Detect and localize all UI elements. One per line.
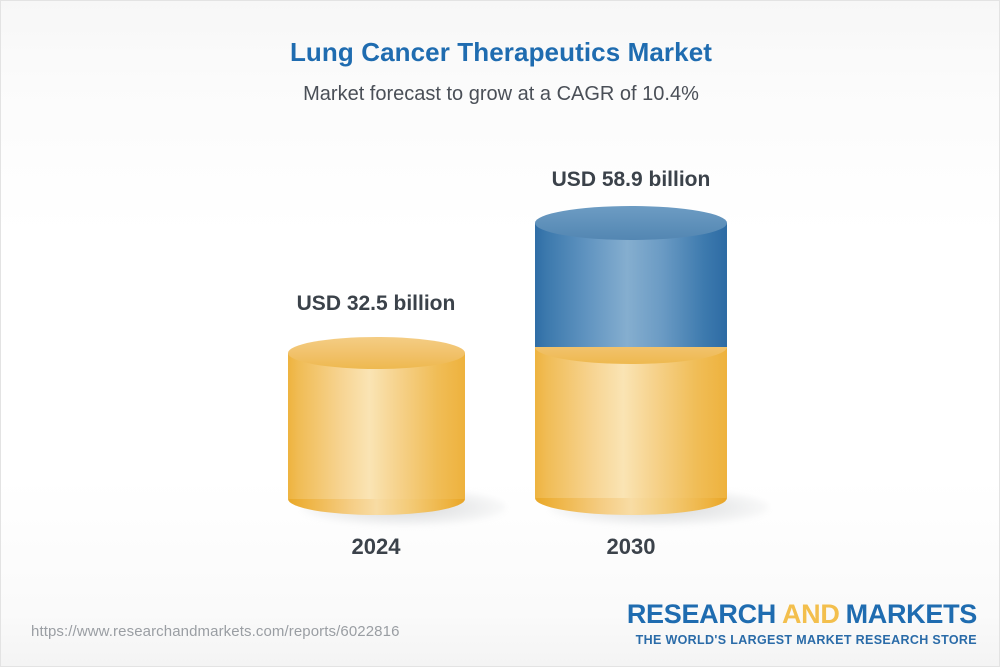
- logo-word-and: AND: [782, 599, 840, 629]
- bar-2024-top-cap: [288, 337, 465, 369]
- bar-2030-upper-body: [535, 223, 727, 347]
- chart-plot-area: USD 32.5 billion 2024 USD 58.9 billion 2…: [1, 1, 1000, 668]
- bar-2024-category-label: 2024: [276, 534, 476, 560]
- logo-tagline: THE WORLD'S LARGEST MARKET RESEARCH STOR…: [627, 634, 977, 647]
- bar-cylinder-2030[interactable]: [535, 206, 727, 515]
- bar-2030-lower-body: [535, 346, 727, 498]
- logo-word-research: RESEARCH: [627, 599, 776, 629]
- logo-wordmark: RESEARCHANDMARKETS: [627, 601, 977, 628]
- bar-2024-body: [288, 353, 465, 499]
- bar-2030-value-label: USD 58.9 billion: [531, 168, 731, 192]
- source-url[interactable]: https://www.researchandmarkets.com/repor…: [31, 623, 400, 640]
- brand-logo[interactable]: RESEARCHANDMARKETS THE WORLD'S LARGEST M…: [627, 601, 977, 647]
- bar-2030-category-label: 2030: [531, 534, 731, 560]
- bar-cylinder-2024[interactable]: [288, 337, 465, 515]
- bar-2024-value-label: USD 32.5 billion: [276, 292, 476, 316]
- bar-2030-top-cap: [535, 206, 727, 240]
- logo-word-markets: MARKETS: [846, 599, 977, 629]
- infographic-canvas: Lung Cancer Therapeutics Market Market f…: [0, 0, 1000, 667]
